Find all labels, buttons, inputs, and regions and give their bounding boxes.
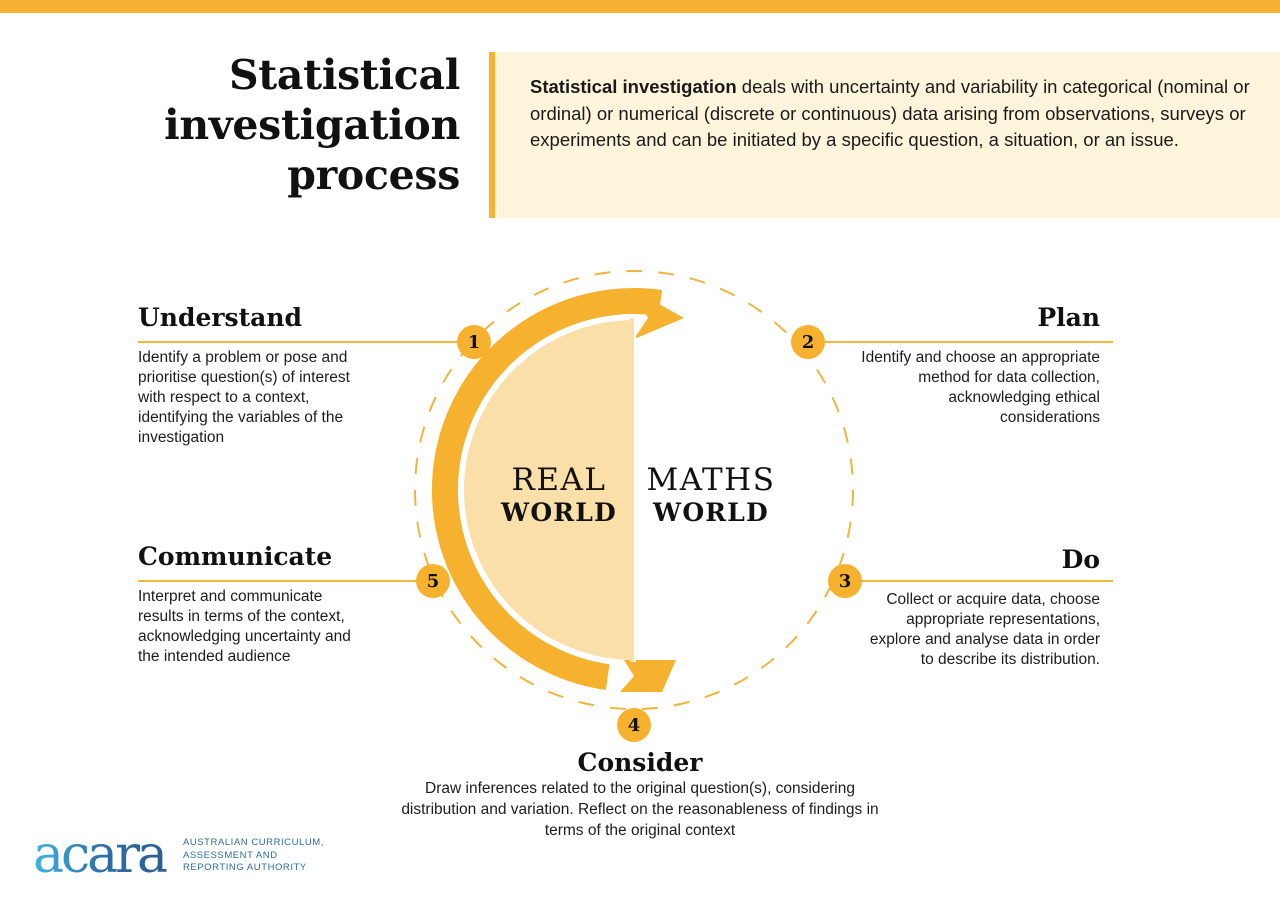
step-do-body: Collect or acquire data, choose appropri… [860, 590, 1100, 670]
real-world-label: REAL WORLD [484, 462, 634, 528]
step-badge-3[interactable]: 3 [828, 564, 862, 598]
step-do-title: Do [860, 545, 1100, 575]
acara-tagline-line-1: Australian Curriculum, [183, 837, 324, 850]
acara-tagline: Australian Curriculum, Assessment and Re… [183, 837, 324, 875]
step-badge-5[interactable]: 5 [416, 564, 450, 598]
acara-tagline-line-3: Reporting Authority [183, 862, 324, 875]
step-do: Do Collect or acquire data, choose appro… [860, 545, 1100, 670]
step-plan-title: Plan [860, 303, 1100, 333]
step-consider-title: Consider [390, 748, 890, 778]
acara-wordmark-icon: acara [33, 828, 183, 884]
maths-world-label: MATHS WORLD [636, 462, 786, 528]
step-plan-body: Identify and choose an appropriate metho… [860, 348, 1100, 428]
step-plan: Plan Identify and choose an appropriate … [860, 303, 1100, 428]
step-understand-title: Understand [138, 303, 458, 333]
step-badge-4[interactable]: 4 [617, 708, 651, 742]
real-world-line-1: REAL [484, 462, 634, 498]
step-badge-1[interactable]: 1 [457, 325, 491, 359]
acara-tagline-line-2: Assessment and [183, 850, 324, 863]
svg-text:acara: acara [33, 828, 167, 884]
step-communicate-title: Communicate [138, 542, 418, 572]
step-understand: Understand Identify a problem or pose an… [138, 303, 458, 448]
step-consider-body: Draw inferences related to the original … [390, 778, 890, 841]
maths-world-line-2: WORLD [636, 498, 786, 528]
infographic-page: Statistical investigation process Statis… [0, 0, 1280, 906]
step-communicate: Communicate Interpret and communicate re… [138, 542, 418, 667]
real-world-line-2: WORLD [484, 498, 634, 528]
step-understand-body: Identify a problem or pose and prioritis… [138, 348, 373, 448]
step-consider: Consider Draw inferences related to the … [390, 748, 890, 841]
step-badge-2[interactable]: 2 [791, 325, 825, 359]
step-communicate-body: Interpret and communicate results in ter… [138, 587, 353, 667]
maths-world-line-1: MATHS [636, 462, 786, 498]
acara-logo: acara Australian Curriculum, Assessment … [33, 828, 333, 884]
